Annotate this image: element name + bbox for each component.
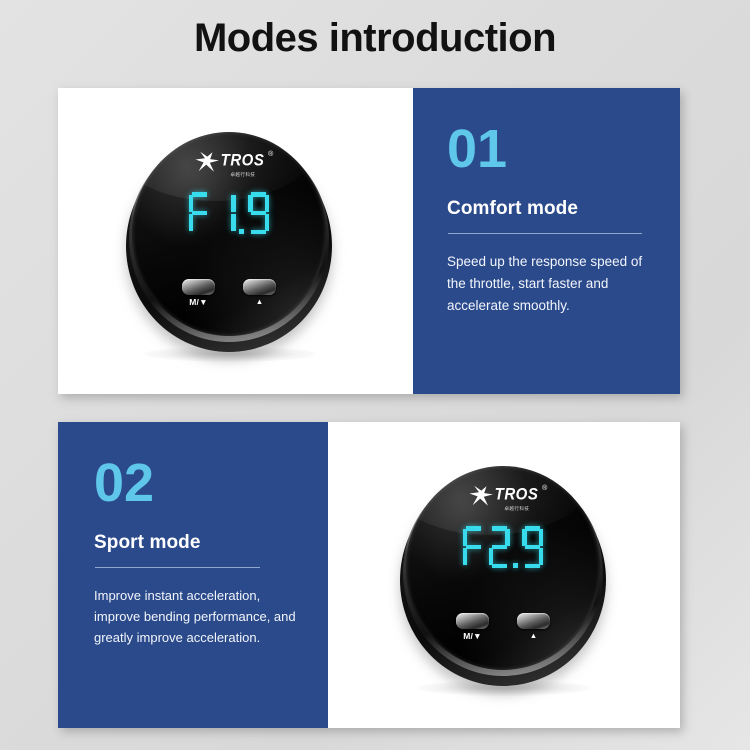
segment-e [489,548,494,565]
brand-name: TROS [495,486,539,503]
brand-logo: TROS ® 卓越行科技 [132,154,326,178]
mode-card-02: 02 Sport mode Improve instant accelerati… [58,422,680,728]
brand-subtitle: 卓越行科技 [222,171,262,177]
segment-e [189,214,194,231]
segment-c [231,214,236,231]
divider [448,233,642,234]
throttle-controller-device: TROS ® 卓越行科技 M/▼ ▲ [126,132,340,364]
brand-name: TROS [221,152,265,169]
segment-f [463,529,468,546]
mode-title: Sport mode [94,532,298,554]
up-button-label: ▲ [256,298,264,306]
segment-c [505,548,510,565]
mode-number: 02 [94,456,298,510]
device-showcase-01: TROS ® 卓越行科技 M/▼ ▲ [58,88,413,394]
seg-digit [520,526,545,568]
segment-e [522,548,527,565]
divider [95,567,260,568]
brand-logo: TROS ® 卓越行科技 [406,488,600,512]
mode-info-01: 01 Comfort mode Speed up the response sp… [413,88,680,394]
decimal-point [239,229,245,235]
mode-description: Speed up the response speed of the throt… [447,251,650,317]
segment-e [463,548,468,565]
segment-f [215,195,220,212]
mode-button[interactable]: M/▼ [182,279,215,307]
device-buttons: M/▼ ▲ [406,613,600,641]
page-title: Modes introduction [0,16,750,61]
segment-f [489,529,494,546]
segment-f [248,195,253,212]
seg-digit [487,526,512,568]
registered-mark: ® [542,485,547,492]
segment-d [218,230,233,235]
device-buttons: M/▼ ▲ [132,279,326,307]
segment-c [265,214,270,231]
mode-title: Comfort mode [447,198,650,220]
seg-digit [461,526,486,568]
segment-c [205,214,210,231]
mode-info-02: 02 Sport mode Improve instant accelerati… [58,422,328,728]
mode-description: Improve instant acceleration, improve be… [94,585,298,648]
star-icon [468,485,494,507]
segment-d [192,230,207,235]
up-button[interactable]: ▲ [243,279,276,307]
segment-g [192,211,207,216]
mode-button[interactable]: M/▼ [456,613,489,641]
segment-b [479,529,484,546]
star-icon [194,151,220,173]
up-button-cap[interactable] [243,279,276,295]
seven-segment-display [406,526,600,568]
segment-f [189,195,194,212]
decimal-point [513,563,519,569]
seven-segment-display [132,192,326,234]
device-showcase-02: TROS ® 卓越行科技 M/▼ ▲ [328,422,680,728]
segment-e [248,214,253,231]
up-button[interactable]: ▲ [517,613,550,641]
registered-mark: ® [268,151,273,158]
seg-digit [213,192,238,234]
segment-f [522,529,527,546]
segment-c [539,548,544,565]
brand-textblock: TROS ® 卓越行科技 [495,488,539,512]
segment-d [466,564,481,569]
mode-button-label: M/▼ [189,298,207,307]
throttle-controller-device: TROS ® 卓越行科技 M/▼ ▲ [400,466,614,698]
segment-b [505,529,510,546]
up-button-label: ▲ [530,632,538,640]
up-button-cap[interactable] [517,613,550,629]
seg-digit [246,192,271,234]
mode-button-label: M/▼ [463,632,481,641]
segment-b [265,195,270,212]
segment-e [215,214,220,231]
mode-number: 01 [447,122,650,176]
segment-b [205,195,210,212]
device-face: TROS ® 卓越行科技 M/▼ ▲ [132,132,326,336]
segment-c [479,548,484,565]
segment-d [251,230,266,235]
segment-g [466,545,481,550]
brand-textblock: TROS ® 卓越行科技 [221,154,265,178]
segment-d [492,564,507,569]
segment-b [539,529,544,546]
mode-card-01: TROS ® 卓越行科技 M/▼ ▲ [58,88,680,394]
device-face: TROS ® 卓越行科技 M/▼ ▲ [406,466,600,670]
mode-button-cap[interactable] [456,613,489,629]
segment-g [492,545,507,550]
mode-button-cap[interactable] [182,279,215,295]
seg-digit [187,192,212,234]
segment-g [251,211,266,216]
segment-d [525,564,540,569]
segment-g [218,211,233,216]
brand-subtitle: 卓越行科技 [496,505,536,511]
segment-b [231,195,236,212]
segment-g [525,545,540,550]
